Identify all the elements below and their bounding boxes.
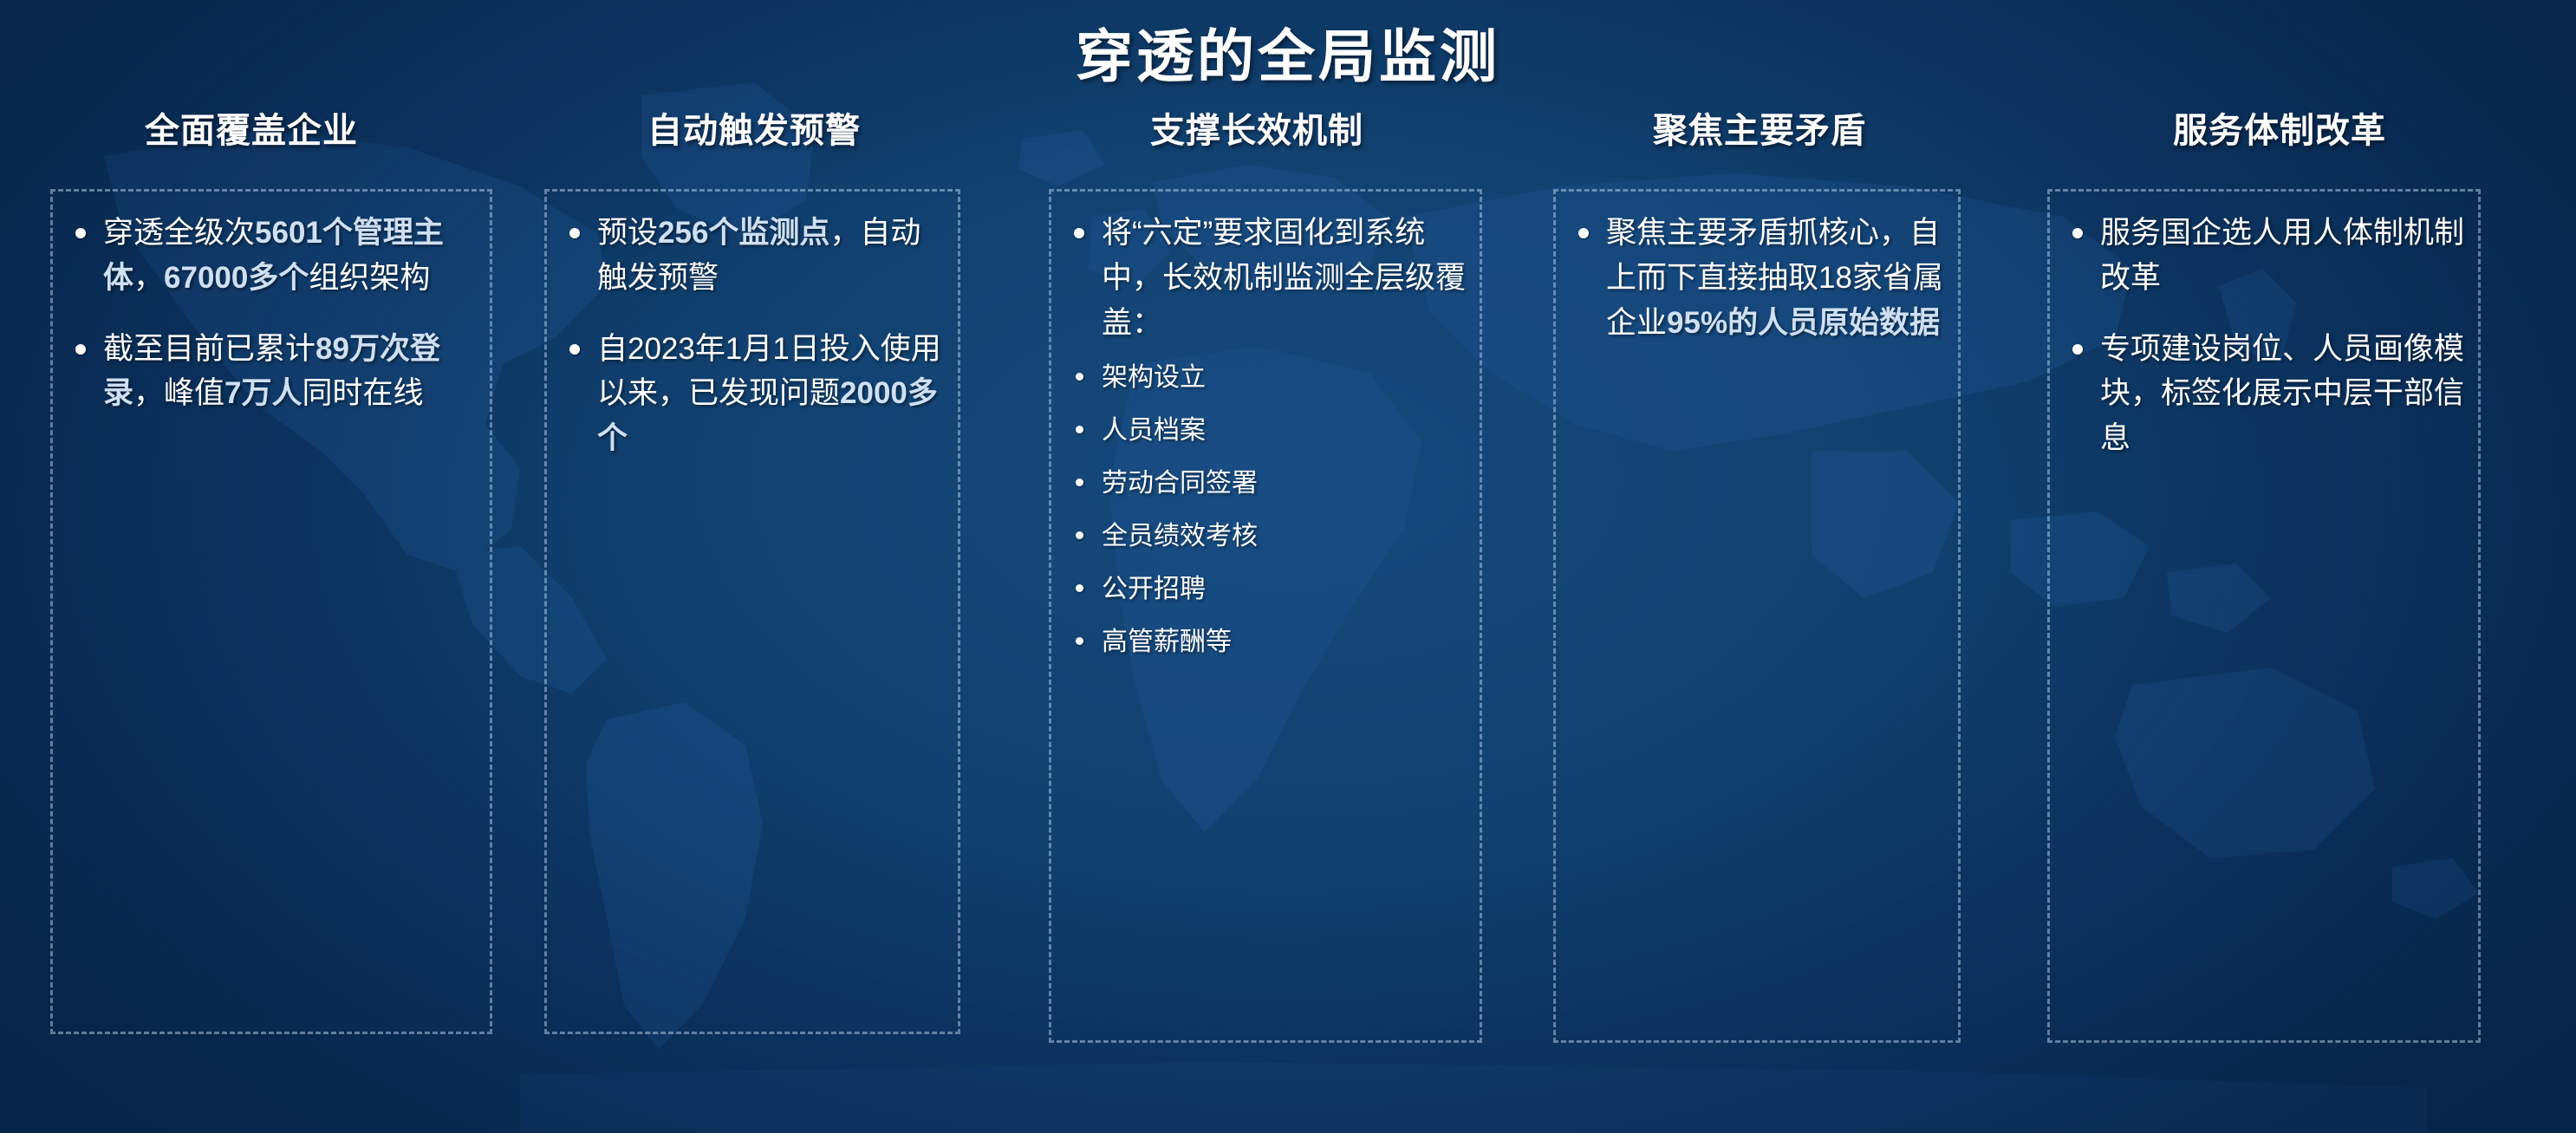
column-heading: 聚焦主要矛盾 (1508, 102, 2011, 153)
column-content-box: 穿透全级次5601个管理主体，67000多个组织架构 截至目前已累计89万次登录… (50, 189, 492, 1034)
list-item: 劳动合同签署 (1064, 466, 1467, 500)
bullet-list: 服务国企选人用人体制机制改革 专项建设岗位、人员画像模块，标签化展示中层干部信息 (2062, 211, 2466, 461)
column-heading: 支撑长效机制 (1005, 102, 1508, 153)
bullet-segment: 穿透全级次 (103, 216, 255, 250)
page-title: 穿透的全局监测 (0, 10, 2576, 94)
bullet-list: 将“六定”要求固化到系统中，长效机制监测全层级覆盖： (1064, 211, 1467, 345)
list-item: 截至目前已累计89万次登录，峰值7万人同时在线 (65, 327, 478, 417)
column-content-box: 预设256个监测点，自动触发预警 自2023年1月1日投入使用以来，已发现问题2… (544, 189, 960, 1034)
list-item: 高管薪酬等 (1064, 625, 1467, 659)
bullet-segment: ，峰值 (133, 376, 224, 410)
list-item: 聚焦主要矛盾抓核心，自上而下直接抽取18家省属企业95%的人员原始数据 (1568, 211, 1946, 345)
list-item: 服务国企选人用人体制机制改革 (2062, 211, 2466, 301)
column-heading: 自动触发预警 (503, 102, 1005, 153)
column-heading: 服务体制改革 (2011, 102, 2548, 153)
list-item: 预设256个监测点，自动触发预警 (559, 211, 946, 301)
list-item: 专项建设岗位、人员画像模块，标签化展示中层干部信息 (2062, 327, 2466, 461)
sub-bullet-list: 架构设立 人员档案 劳动合同签署 全员绩效考核 公开招聘 高管薪酬等 (1064, 361, 1467, 659)
list-item: 人员档案 (1064, 413, 1467, 447)
bullet-segment: 截至目前已累计 (103, 332, 315, 366)
column-overall-coverage: 全面覆盖企业 穿透全级次5601个管理主体，67000多个组织架构 截至目前已累… (0, 102, 503, 1034)
column-system-reform: 服务体制改革 服务国企选人用人体制机制改革 专项建设岗位、人员画像模块，标签化展… (2011, 102, 2548, 1043)
bullet-segment-highlight: 256个监测点 (658, 216, 829, 250)
list-item: 全员绩效考核 (1064, 519, 1467, 553)
bullet-list: 聚焦主要矛盾抓核心，自上而下直接抽取18家省属企业95%的人员原始数据 (1568, 211, 1946, 345)
list-item: 架构设立 (1064, 361, 1467, 394)
list-item: 将“六定”要求固化到系统中，长效机制监测全层级覆盖： (1064, 211, 1467, 345)
bullet-segment: 将“六定”要求固化到系统中，长效机制监测全层级覆盖： (1102, 216, 1466, 340)
column-auto-alert: 自动触发预警 预设256个监测点，自动触发预警 自2023年1月1日投入使用以来… (503, 102, 1005, 1034)
bullet-segment: 组织架构 (309, 261, 430, 295)
list-item: 穿透全级次5601个管理主体，67000多个组织架构 (65, 211, 478, 301)
bullet-list: 预设256个监测点，自动触发预警 自2023年1月1日投入使用以来，已发现问题2… (559, 211, 946, 461)
bullet-list: 穿透全级次5601个管理主体，67000多个组织架构 截至目前已累计89万次登录… (65, 211, 478, 416)
columns-container: 全面覆盖企业 穿透全级次5601个管理主体，67000多个组织架构 截至目前已累… (0, 102, 2576, 1073)
column-content-box: 将“六定”要求固化到系统中，长效机制监测全层级覆盖： 架构设立 人员档案 劳动合… (1049, 189, 1482, 1043)
list-item: 公开招聘 (1064, 572, 1467, 606)
column-long-term-mechanism: 支撑长效机制 将“六定”要求固化到系统中，长效机制监测全层级覆盖： 架构设立 人… (1005, 102, 1508, 1043)
slide-canvas: 穿透的全局监测 全面覆盖企业 穿透全级次5601个管理主体，67000多个组织架… (0, 0, 2576, 1133)
list-item: 自2023年1月1日投入使用以来，已发现问题2000多个 (559, 327, 946, 461)
bullet-segment-highlight: 7万人 (224, 376, 302, 410)
bullet-segment: 专项建设岗位、人员画像模块，标签化展示中层干部信息 (2100, 332, 2464, 456)
bullet-segment-highlight: 67000多个 (164, 261, 309, 295)
bullet-segment: ， (133, 261, 164, 295)
column-content-box: 聚焦主要矛盾抓核心，自上而下直接抽取18家省属企业95%的人员原始数据 (1553, 189, 1961, 1043)
bullet-segment-highlight: 95%的人员原始数据 (1667, 306, 1940, 340)
bullet-segment: 预设 (597, 216, 658, 250)
column-heading: 全面覆盖企业 (0, 102, 503, 153)
bullet-segment: 同时在线 (302, 376, 424, 410)
column-key-contradictions: 聚焦主要矛盾 聚焦主要矛盾抓核心，自上而下直接抽取18家省属企业95%的人员原始… (1508, 102, 2011, 1043)
bullet-segment: 服务国企选人用人体制机制改革 (2100, 216, 2464, 295)
column-content-box: 服务国企选人用人体制机制改革 专项建设岗位、人员画像模块，标签化展示中层干部信息 (2047, 189, 2481, 1043)
